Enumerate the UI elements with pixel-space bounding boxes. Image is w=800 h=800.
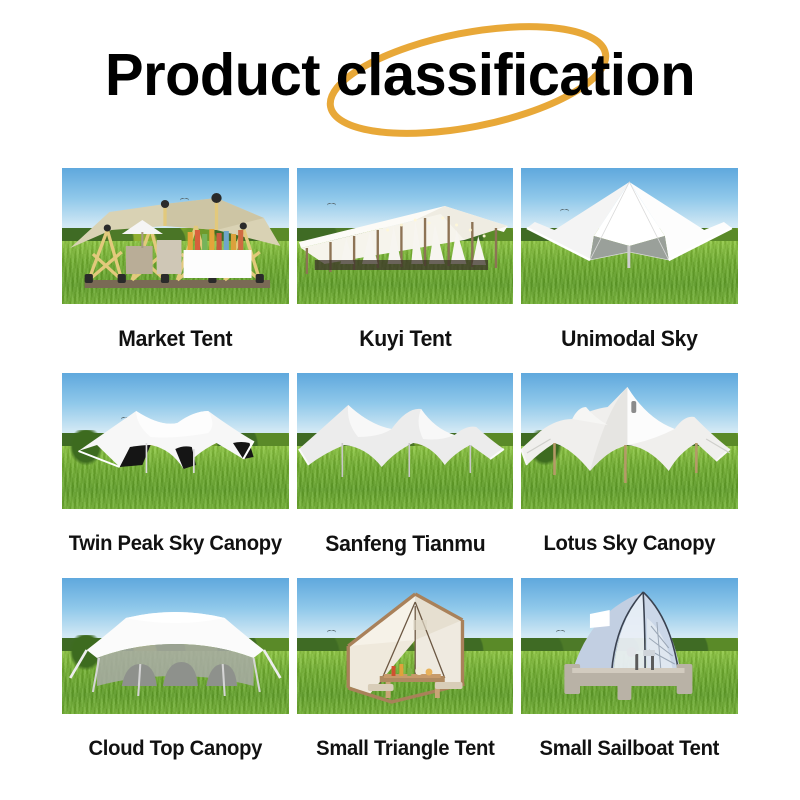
product-grid: Market Tent [62, 168, 738, 783]
product-cell-unimodal-sky[interactable]: Unimodal Sky [521, 168, 738, 373]
product-label: Twin Peak Sky Canopy [69, 509, 282, 578]
small-triangle-tent-photo[interactable] [297, 578, 514, 714]
product-label: Cloud Top Canopy [69, 714, 282, 783]
lotus-sky-canopy-photo[interactable] [521, 373, 738, 509]
cloud-top-canopy-photo[interactable] [62, 578, 289, 714]
product-label: Kuyi Tent [303, 304, 507, 373]
unimodal-sky-photo[interactable] [521, 168, 738, 304]
product-cell-small-sailboat-tent[interactable]: Small Sailboat Tent [521, 578, 738, 783]
lotus-sky-canopy-illustration [521, 373, 738, 509]
twin-peak-sky-canopy-photo[interactable] [62, 373, 289, 509]
sanfeng-tianmu-illustration [297, 373, 514, 509]
product-classification-page: Product classification [0, 0, 800, 800]
kuyi-tent-illustration [297, 168, 514, 304]
product-label: Small Sailboat Tent [528, 714, 732, 783]
small-sailboat-tent-photo[interactable] [521, 578, 738, 714]
sanfeng-tianmu-photo[interactable] [297, 373, 514, 509]
product-label: Market Tent [69, 304, 282, 373]
product-label: Small Triangle Tent [303, 714, 507, 783]
product-cell-lotus-sky-canopy[interactable]: Lotus Sky Canopy [521, 373, 738, 578]
market-tent-illustration [62, 168, 289, 304]
small-triangle-tent-illustration [297, 578, 514, 714]
product-cell-twin-peak-sky-canopy[interactable]: Twin Peak Sky Canopy [62, 373, 289, 578]
page-title: Product classification [105, 46, 695, 105]
unimodal-sky-illustration [521, 168, 738, 304]
twin-peak-canopy-illustration [62, 373, 289, 509]
product-cell-market-tent[interactable]: Market Tent [62, 168, 289, 373]
cloud-top-canopy-illustration [62, 578, 289, 714]
product-cell-cloud-top-canopy[interactable]: Cloud Top Canopy [62, 578, 289, 783]
page-header: Product classification [0, 0, 800, 150]
kuyi-tent-photo[interactable] [297, 168, 514, 304]
market-tent-photo[interactable] [62, 168, 289, 304]
product-cell-kuyi-tent[interactable]: Kuyi Tent [297, 168, 514, 373]
product-label: Sanfeng Tianmu [303, 509, 507, 578]
small-sailboat-tent-illustration [521, 578, 738, 714]
product-label: Lotus Sky Canopy [528, 509, 732, 578]
product-cell-small-triangle-tent[interactable]: Small Triangle Tent [297, 578, 514, 783]
product-label: Unimodal Sky [528, 304, 732, 373]
product-cell-sanfeng-tianmu[interactable]: Sanfeng Tianmu [297, 373, 514, 578]
